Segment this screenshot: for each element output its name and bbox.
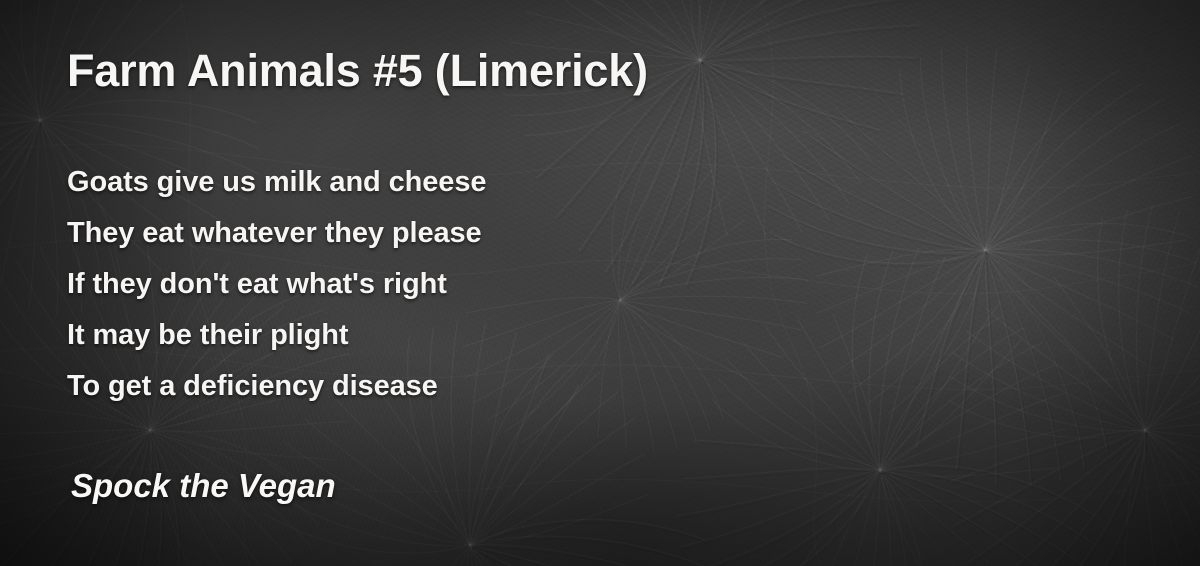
- poem-content: Farm Animals #5 (Limerick) Goats give us…: [0, 0, 1200, 566]
- poem-image: Farm Animals #5 (Limerick) Goats give us…: [0, 0, 1200, 566]
- poem-body: Goats give us milk and cheese They eat w…: [67, 157, 486, 412]
- poem-line: If they don't eat what's right: [67, 259, 486, 310]
- poem-title: Farm Animals #5 (Limerick): [67, 47, 648, 94]
- poem-author: Spock the Vegan: [71, 468, 336, 504]
- poem-line: Goats give us milk and cheese: [67, 157, 486, 208]
- poem-line: They eat whatever they please: [67, 208, 486, 259]
- poem-line: To get a deficiency disease: [67, 361, 486, 412]
- poem-line: It may be their plight: [67, 310, 486, 361]
